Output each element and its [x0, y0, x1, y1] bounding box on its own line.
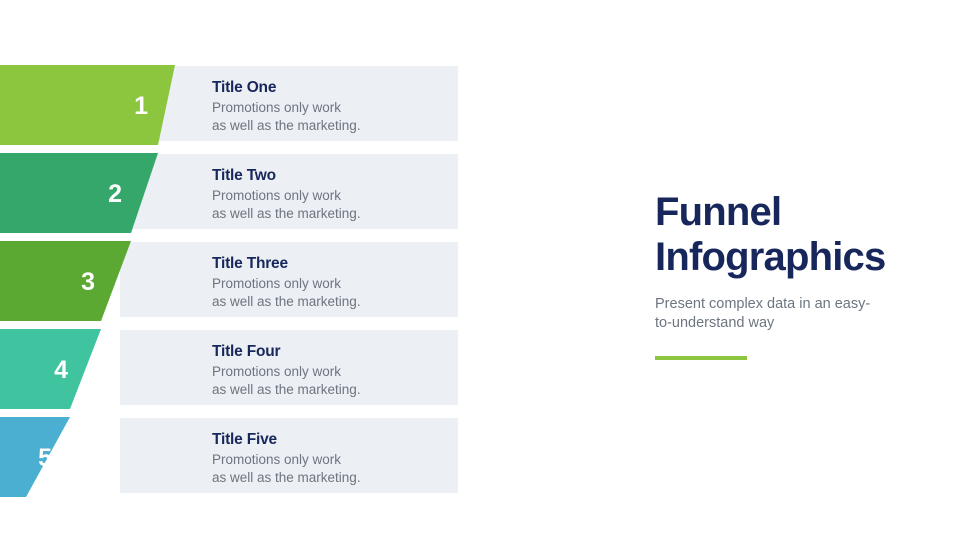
funnel-row-text: Title Five Promotions only work as well … — [212, 430, 361, 487]
funnel-row-text: Title Three Promotions only work as well… — [212, 254, 361, 311]
funnel-row-number: 1 — [0, 94, 148, 119]
funnel-row-number: 2 — [0, 182, 122, 207]
funnel-row-description: Promotions only work as well as the mark… — [212, 275, 361, 311]
funnel-row-title: Title Five — [212, 430, 361, 449]
funnel-row[interactable]: 3 Title Three Promotions only work as we… — [0, 241, 470, 321]
funnel-row-title: Title Two — [212, 166, 361, 185]
page-subtitle: Present complex data in an easy- to-unde… — [655, 295, 960, 334]
funnel-row-description: Promotions only work as well as the mark… — [212, 187, 361, 223]
funnel-diagram: 1 Title One Promotions only work as well… — [0, 0, 470, 551]
slide-canvas: 1 Title One Promotions only work as well… — [0, 0, 980, 551]
accent-rule — [655, 356, 747, 360]
funnel-row[interactable]: 1 Title One Promotions only work as well… — [0, 65, 470, 145]
funnel-row-title: Title Three — [212, 254, 361, 273]
funnel-row-text: Title Four Promotions only work as well … — [212, 342, 361, 399]
headline-block: Funnel Infographics Present complex data… — [655, 190, 960, 360]
funnel-row-text: Title Two Promotions only work as well a… — [212, 166, 361, 223]
funnel-row-description: Promotions only work as well as the mark… — [212, 363, 361, 399]
funnel-row-description: Promotions only work as well as the mark… — [212, 451, 361, 487]
funnel-row[interactable]: 2 Title Two Promotions only work as well… — [0, 153, 470, 233]
funnel-row[interactable]: 4 Title Four Promotions only work as wel… — [0, 329, 470, 409]
funnel-row-title: Title One — [212, 78, 361, 97]
funnel-row-description: Promotions only work as well as the mark… — [212, 99, 361, 135]
funnel-row-number: 4 — [0, 358, 68, 383]
funnel-row-number: 3 — [0, 270, 95, 295]
funnel-row-text: Title One Promotions only work as well a… — [212, 78, 361, 135]
funnel-row[interactable]: 5 Title Five Promotions only work as wel… — [0, 417, 470, 497]
page-title: Funnel Infographics — [655, 190, 960, 280]
funnel-row-title: Title Four — [212, 342, 361, 361]
funnel-row-number: 5 — [0, 446, 52, 471]
